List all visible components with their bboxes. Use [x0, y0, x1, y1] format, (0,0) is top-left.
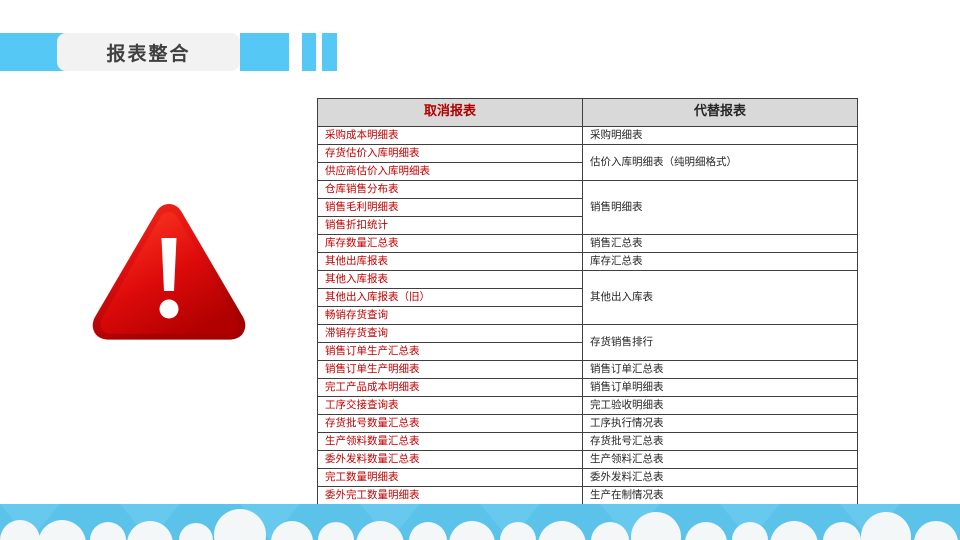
replacement-report-cell: 生产在制情况表: [583, 487, 858, 505]
replacement-report-cell: 销售订单汇总表: [583, 361, 858, 379]
cancelled-report-cell: 其他出入库报表（旧）: [318, 289, 583, 307]
report-mapping-table: 取消报表 代替报表 采购成本明细表采购明细表存货估价入库明细表估价入库明细表（纯…: [317, 98, 858, 523]
slide-canvas: 报表整合: [0, 0, 960, 540]
table-row: 其他入库报表其他出入库表: [318, 271, 858, 289]
cancelled-report-cell: 销售订单生产汇总表: [318, 343, 583, 361]
table-row: 完工数量明细表委外发料汇总表: [318, 469, 858, 487]
decorative-cloud-band: [0, 504, 960, 540]
cancelled-report-cell: 存货估价入库明细表: [318, 145, 583, 163]
cancelled-report-cell: 销售折扣统计: [318, 217, 583, 235]
table-row: 委外发料数量汇总表生产领料汇总表: [318, 451, 858, 469]
replacement-report-cell: 存货销售排行: [583, 325, 858, 361]
table-body: 采购成本明细表采购明细表存货估价入库明细表估价入库明细表（纯明细格式）供应商估价…: [318, 127, 858, 523]
title-accent-bar-a: [240, 33, 289, 71]
title-accent-bar-c: [322, 33, 337, 71]
cancelled-report-cell: 滞销存货查询: [318, 325, 583, 343]
cancelled-report-cell: 其他入库报表: [318, 271, 583, 289]
replacement-report-cell: 完工验收明细表: [583, 397, 858, 415]
cancelled-report-cell: 委外发料数量汇总表: [318, 451, 583, 469]
cancelled-report-cell: 委外完工数量明细表: [318, 487, 583, 505]
replacement-report-cell: 估价入库明细表（纯明细格式）: [583, 145, 858, 181]
table-row: 库存数量汇总表销售汇总表: [318, 235, 858, 253]
table-row: 仓库销售分布表销售明细表: [318, 181, 858, 199]
column-header-cancelled-reports: 取消报表: [318, 99, 583, 127]
cancelled-report-cell: 销售毛利明细表: [318, 199, 583, 217]
replacement-report-cell: 工序执行情况表: [583, 415, 858, 433]
replacement-report-cell: 销售汇总表: [583, 235, 858, 253]
cancelled-report-cell: 畅销存货查询: [318, 307, 583, 325]
cancelled-report-cell: 供应商估价入库明细表: [318, 163, 583, 181]
replacement-report-cell: 生产领料汇总表: [583, 451, 858, 469]
cancelled-report-cell: 采购成本明细表: [318, 127, 583, 145]
title-accent-bar-b: [302, 33, 316, 71]
replacement-report-cell: 其他出入库表: [583, 271, 858, 325]
replacement-report-cell: 库存汇总表: [583, 253, 858, 271]
replacement-report-cell: 销售明细表: [583, 181, 858, 235]
table-row: 滞销存货查询存货销售排行: [318, 325, 858, 343]
table-row: 存货批号数量汇总表工序执行情况表: [318, 415, 858, 433]
cancelled-report-cell: 仓库销售分布表: [318, 181, 583, 199]
table-row: 销售订单生产明细表销售订单汇总表: [318, 361, 858, 379]
replacement-report-cell: 采购明细表: [583, 127, 858, 145]
column-header-replacement-reports: 代替报表: [583, 99, 858, 127]
table-row: 委外完工数量明细表生产在制情况表: [318, 487, 858, 505]
cancelled-report-cell: 库存数量汇总表: [318, 235, 583, 253]
replacement-report-cell: 存货批号汇总表: [583, 433, 858, 451]
cancelled-report-cell: 完工数量明细表: [318, 469, 583, 487]
cancelled-report-cell: 完工产品成本明细表: [318, 379, 583, 397]
cancelled-report-cell: 生产领料数量汇总表: [318, 433, 583, 451]
cancelled-report-cell: 工序交接查询表: [318, 397, 583, 415]
replacement-report-cell: 委外发料汇总表: [583, 469, 858, 487]
cancelled-report-cell: 销售订单生产明细表: [318, 361, 583, 379]
table-row: 生产领料数量汇总表存货批号汇总表: [318, 433, 858, 451]
page-title: 报表整合: [106, 39, 190, 66]
cancelled-report-cell: 存货批号数量汇总表: [318, 415, 583, 433]
table-header-row: 取消报表 代替报表: [318, 99, 858, 127]
table-row: 工序交接查询表完工验收明细表: [318, 397, 858, 415]
replacement-report-cell: 销售订单明细表: [583, 379, 858, 397]
title-pill: 报表整合: [57, 33, 240, 71]
warning-triangle-icon: [88, 198, 250, 343]
cancelled-report-cell: 其他出库报表: [318, 253, 583, 271]
table-row: 存货估价入库明细表估价入库明细表（纯明细格式）: [318, 145, 858, 163]
table-row: 其他出库报表库存汇总表: [318, 253, 858, 271]
table-row: 采购成本明细表采购明细表: [318, 127, 858, 145]
table-row: 完工产品成本明细表销售订单明细表: [318, 379, 858, 397]
